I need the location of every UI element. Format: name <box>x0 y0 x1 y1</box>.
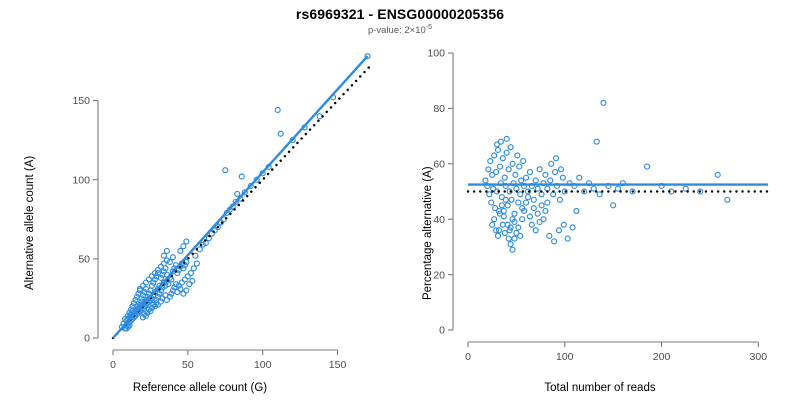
right-y-axis-label: Percentage alternative (A) <box>422 166 434 300</box>
right-x-axis-label: Total number of reads <box>400 382 800 394</box>
svg-text:40: 40 <box>433 214 445 226</box>
svg-text:0: 0 <box>110 359 116 371</box>
svg-text:300: 300 <box>750 351 768 363</box>
svg-text:200: 200 <box>653 351 671 363</box>
svg-text:50: 50 <box>78 254 90 266</box>
right-plot-area: 0100200300020406080100 <box>400 0 800 400</box>
panel-reference-vs-alternative: 050100150050100150 Reference allele coun… <box>0 0 400 400</box>
svg-text:0: 0 <box>439 325 445 337</box>
svg-text:0: 0 <box>84 333 90 345</box>
svg-text:100: 100 <box>556 351 574 363</box>
svg-text:100: 100 <box>72 174 90 186</box>
figure-canvas: rs6969321 - ENSG00000205356 p-value: 2×1… <box>0 0 800 400</box>
panel-percentage-vs-reads: 0100200300020406080100 Total number of r… <box>400 0 800 400</box>
svg-text:20: 20 <box>433 269 445 281</box>
left-plot-area: 050100150050100150 <box>0 0 400 400</box>
svg-text:80: 80 <box>433 103 445 115</box>
left-y-axis-label: Alternative allele count (A) <box>24 156 36 290</box>
svg-text:150: 150 <box>72 95 90 107</box>
left-x-axis-label: Reference allele count (G) <box>0 382 400 394</box>
svg-text:150: 150 <box>329 359 347 371</box>
svg-text:0: 0 <box>465 351 471 363</box>
svg-text:100: 100 <box>427 48 445 60</box>
svg-text:100: 100 <box>254 359 272 371</box>
svg-text:50: 50 <box>182 359 194 371</box>
svg-text:60: 60 <box>433 159 445 171</box>
